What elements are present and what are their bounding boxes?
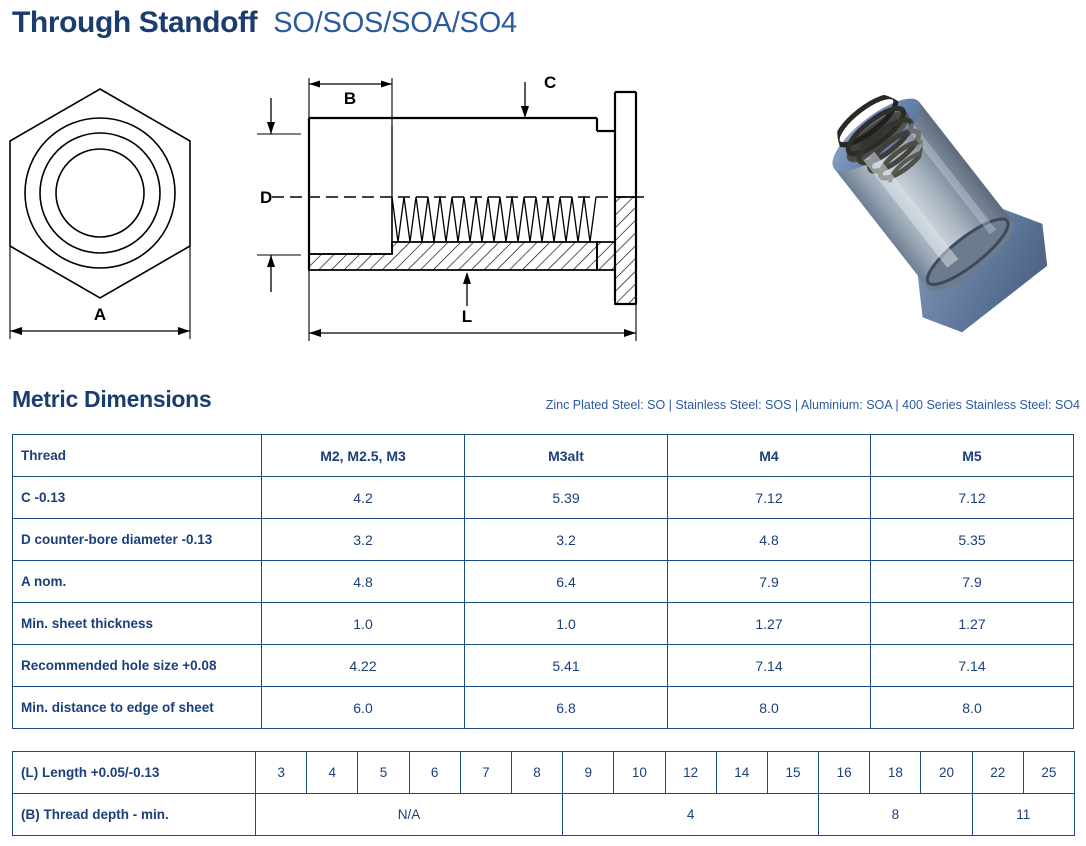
header-col-2: M4 bbox=[668, 435, 871, 477]
cell-a-1: 6.4 bbox=[465, 561, 668, 603]
page-header: Through Standoff SO/SOS/SOA/SO4 bbox=[12, 6, 517, 40]
cell-edge-3: 8.0 bbox=[871, 687, 1074, 729]
row-label-a: A nom. bbox=[13, 561, 262, 603]
dimension-label-l: L bbox=[462, 307, 472, 326]
table-header-row: Thread M2, M2.5, M3 M3alt M4 M5 bbox=[13, 435, 1074, 477]
arrow-right-a bbox=[178, 327, 190, 335]
hexagon-outline bbox=[10, 89, 190, 298]
thread-profile bbox=[392, 197, 596, 242]
length-cell-11: 16 bbox=[819, 752, 870, 794]
d-upper-arrow bbox=[267, 122, 275, 134]
table-row: A nom. 4.8 6.4 7.9 7.9 bbox=[13, 561, 1074, 603]
cell-c-0: 4.2 bbox=[262, 477, 465, 519]
cell-sheet-2: 1.27 bbox=[668, 603, 871, 645]
hexagon-end-view-drawing: A bbox=[0, 56, 230, 356]
thread-depth-row: (B) Thread depth - min. N/A 4 8 11 bbox=[13, 794, 1075, 836]
row-label-sheet-thickness: Min. sheet thickness bbox=[13, 603, 262, 645]
length-cell-9: 14 bbox=[716, 752, 767, 794]
thread-depth-group-1: 4 bbox=[563, 794, 819, 836]
header-col-0: M2, M2.5, M3 bbox=[262, 435, 465, 477]
thread-depth-group-2: 8 bbox=[819, 794, 973, 836]
c-arrow bbox=[521, 106, 529, 118]
l-arrow-left bbox=[309, 329, 321, 337]
section-heading: Metric Dimensions bbox=[12, 386, 211, 413]
part-number-list: SO/SOS/SOA/SO4 bbox=[273, 7, 517, 40]
length-table-body: (L) Length +0.05/-0.13 3 4 5 6 7 8 9 10 … bbox=[13, 752, 1075, 836]
technical-drawings: A bbox=[0, 56, 1086, 366]
cell-sheet-3: 1.27 bbox=[871, 603, 1074, 645]
length-cell-10: 15 bbox=[767, 752, 818, 794]
thread-depth-group-3: 11 bbox=[972, 794, 1074, 836]
cell-hole-3: 7.14 bbox=[871, 645, 1074, 687]
cell-hole-1: 5.41 bbox=[465, 645, 668, 687]
row-label-d: D counter-bore diameter -0.13 bbox=[13, 519, 262, 561]
hexagon-end-view-svg: A bbox=[0, 56, 230, 356]
header-thread: Thread bbox=[13, 435, 262, 477]
outer-circle bbox=[25, 118, 175, 268]
length-row: (L) Length +0.05/-0.13 3 4 5 6 7 8 9 10 … bbox=[13, 752, 1075, 794]
table-row: Min. sheet thickness 1.0 1.0 1.27 1.27 bbox=[13, 603, 1074, 645]
metric-dimensions-heading-row: Metric Dimensions Zinc Plated Steel: SO … bbox=[0, 386, 1086, 430]
standoff-photo-svg bbox=[782, 56, 1082, 351]
row-label-length: (L) Length +0.05/-0.13 bbox=[13, 752, 256, 794]
cell-c-1: 5.39 bbox=[465, 477, 668, 519]
length-cell-3: 6 bbox=[409, 752, 460, 794]
cell-sheet-0: 1.0 bbox=[262, 603, 465, 645]
section-hatch-wall bbox=[309, 242, 597, 270]
l-arrow-up bbox=[463, 272, 471, 284]
l-arrow-right bbox=[624, 329, 636, 337]
metric-table-head: Thread M2, M2.5, M3 M3alt M4 M5 bbox=[13, 435, 1074, 477]
cross-section-svg: B C D L bbox=[252, 56, 672, 356]
middle-circle bbox=[40, 133, 160, 253]
row-label-thread-depth: (B) Thread depth - min. bbox=[13, 794, 256, 836]
length-thread-depth-table: (L) Length +0.05/-0.13 3 4 5 6 7 8 9 10 … bbox=[12, 751, 1075, 836]
inner-circle bbox=[56, 149, 144, 237]
row-label-hole-size: Recommended hole size +0.08 bbox=[13, 645, 262, 687]
length-cell-14: 22 bbox=[972, 752, 1023, 794]
cell-d-2: 4.8 bbox=[668, 519, 871, 561]
cell-c-3: 7.12 bbox=[871, 477, 1074, 519]
length-cell-5: 8 bbox=[511, 752, 562, 794]
row-label-c: C -0.13 bbox=[13, 477, 262, 519]
metric-table-body: C -0.13 4.2 5.39 7.12 7.12 D counter-bor… bbox=[13, 477, 1074, 729]
cell-hole-2: 7.14 bbox=[668, 645, 871, 687]
thread-depth-group-0: N/A bbox=[256, 794, 563, 836]
length-cell-8: 12 bbox=[665, 752, 716, 794]
section-hatch-flange bbox=[615, 197, 636, 304]
d-lower-arrow bbox=[267, 255, 275, 267]
header-col-1: M3alt bbox=[465, 435, 668, 477]
dimension-label-d: D bbox=[260, 188, 272, 207]
cell-a-0: 4.8 bbox=[262, 561, 465, 603]
row-label-edge-distance: Min. distance to edge of sheet bbox=[13, 687, 262, 729]
b-arrow-left bbox=[309, 81, 320, 88]
table-row: C -0.13 4.2 5.39 7.12 7.12 bbox=[13, 477, 1074, 519]
cross-section-drawing: B C D L bbox=[252, 56, 672, 356]
length-cell-6: 9 bbox=[563, 752, 614, 794]
metric-dimensions-table: Thread M2, M2.5, M3 M3alt M4 M5 C -0.13 … bbox=[12, 434, 1074, 729]
table-row: Recommended hole size +0.08 4.22 5.41 7.… bbox=[13, 645, 1074, 687]
dimension-label-b: B bbox=[344, 89, 356, 108]
cell-c-2: 7.12 bbox=[668, 477, 871, 519]
arrow-left-a bbox=[10, 327, 22, 335]
length-cell-0: 3 bbox=[256, 752, 307, 794]
cell-d-1: 3.2 bbox=[465, 519, 668, 561]
cell-sheet-1: 1.0 bbox=[465, 603, 668, 645]
cell-edge-0: 6.0 bbox=[262, 687, 465, 729]
page-title: Through Standoff bbox=[12, 6, 257, 40]
table-row: D counter-bore diameter -0.13 3.2 3.2 4.… bbox=[13, 519, 1074, 561]
length-cell-1: 4 bbox=[307, 752, 358, 794]
length-cell-7: 10 bbox=[614, 752, 665, 794]
section-hatch-shoulder bbox=[597, 242, 615, 270]
cell-hole-0: 4.22 bbox=[262, 645, 465, 687]
product-photo-frame bbox=[782, 56, 1082, 351]
material-legend: Zinc Plated Steel: SO | Stainless Steel:… bbox=[420, 398, 1080, 412]
dimension-label-c: C bbox=[544, 73, 556, 92]
cell-edge-1: 6.8 bbox=[465, 687, 668, 729]
cell-d-0: 3.2 bbox=[262, 519, 465, 561]
length-cell-4: 7 bbox=[460, 752, 511, 794]
cell-d-3: 5.35 bbox=[871, 519, 1074, 561]
cell-edge-2: 8.0 bbox=[668, 687, 871, 729]
length-cell-13: 20 bbox=[921, 752, 972, 794]
product-photo bbox=[782, 56, 1082, 351]
length-cell-12: 18 bbox=[870, 752, 921, 794]
header-col-3: M5 bbox=[871, 435, 1074, 477]
dimension-label-a: A bbox=[94, 305, 106, 324]
length-cell-15: 25 bbox=[1023, 752, 1074, 794]
cell-a-2: 7.9 bbox=[668, 561, 871, 603]
b-arrow-right bbox=[381, 81, 392, 88]
table-row: Min. distance to edge of sheet 6.0 6.8 8… bbox=[13, 687, 1074, 729]
cell-a-3: 7.9 bbox=[871, 561, 1074, 603]
length-cell-2: 5 bbox=[358, 752, 409, 794]
